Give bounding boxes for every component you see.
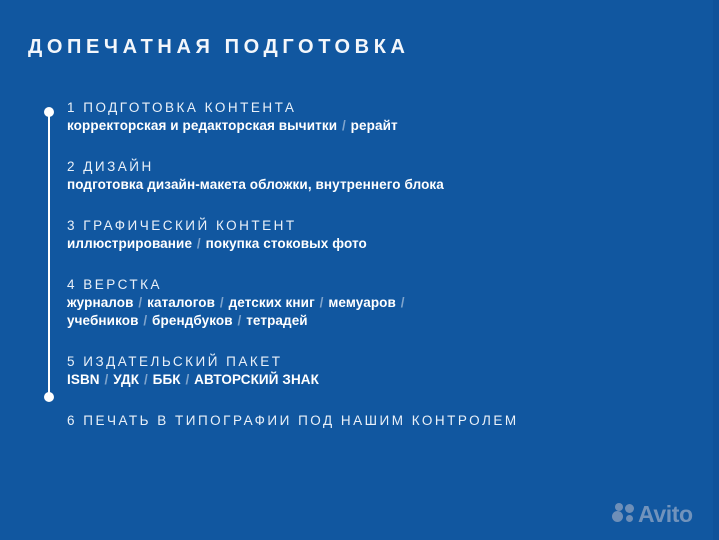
step-item: 4 ВЕРСТКАжурналов / каталогов / детских … [67, 275, 667, 330]
detail-separator: / [143, 372, 149, 387]
avito-dot-top-left [615, 503, 623, 511]
timeline-rail [46, 112, 52, 397]
step-heading: 1 ПОДГОТОВКА КОНТЕНТА [67, 98, 667, 117]
detail-separator: / [184, 372, 190, 387]
avito-wordmark: Avito [638, 500, 693, 528]
step-detail-line: подготовка дизайн-макета обложки, внутре… [67, 176, 667, 194]
detail-separator: / [400, 295, 406, 310]
timeline-line [48, 112, 50, 397]
timeline-node-end [44, 392, 54, 402]
detail-separator: / [196, 236, 202, 251]
detail-separator: / [142, 313, 148, 328]
step-detail-line: иллюстрирование / покупка стоковых фото [67, 235, 667, 253]
slide-canvas: ДОПЕЧАТНАЯ ПОДГОТОВКА 1 ПОДГОТОВКА КОНТЕ… [0, 0, 719, 540]
step-heading: 3 ГРАФИЧЕСКИЙ КОНТЕНТ [67, 216, 667, 235]
detail-separator: / [341, 118, 347, 133]
step-item: 6 ПЕЧАТЬ В ТИПОГРАФИИ ПОД НАШИМ КОНТРОЛЕ… [67, 411, 667, 430]
step-item: 3 ГРАФИЧЕСКИЙ КОНТЕНТиллюстрирование / п… [67, 216, 667, 253]
detail-separator: / [319, 295, 325, 310]
steps-list: 1 ПОДГОТОВКА КОНТЕНТАкорректорская и ред… [67, 98, 667, 430]
avito-dot-bottom-right [626, 515, 633, 522]
step-item: 2 ДИЗАЙНподготовка дизайн-макета обложки… [67, 157, 667, 194]
avito-watermark: Avito [612, 500, 700, 530]
page-title: ДОПЕЧАТНАЯ ПОДГОТОВКА [28, 36, 410, 59]
step-heading: 2 ДИЗАЙН [67, 157, 667, 176]
detail-separator: / [104, 372, 110, 387]
avito-dots-icon [612, 503, 638, 525]
step-heading: 4 ВЕРСТКА [67, 275, 667, 294]
step-item: 1 ПОДГОТОВКА КОНТЕНТАкорректорская и ред… [67, 98, 667, 135]
step-detail-line: корректорская и редакторская вычитки / р… [67, 117, 667, 135]
step-heading: 6 ПЕЧАТЬ В ТИПОГРАФИИ ПОД НАШИМ КОНТРОЛЕ… [67, 411, 667, 430]
step-detail-line: журналов / каталогов / детских книг / ме… [67, 294, 667, 312]
step-detail-line: учебников / брендбуков / тетрадей [67, 312, 667, 330]
detail-separator: / [237, 313, 243, 328]
detail-separator: / [137, 295, 143, 310]
avito-dot-top-right [625, 504, 634, 513]
detail-separator: / [219, 295, 225, 310]
step-detail-line: ISBN / УДК / ББК / АВТОРСКИЙ ЗНАК [67, 371, 667, 389]
step-item: 5 ИЗДАТЕЛЬСКИЙ ПАКЕТISBN / УДК / ББК / А… [67, 352, 667, 389]
right-edge-strip [713, 0, 719, 540]
step-heading: 5 ИЗДАТЕЛЬСКИЙ ПАКЕТ [67, 352, 667, 371]
avito-dot-large [612, 511, 623, 522]
timeline-node-start [44, 107, 54, 117]
